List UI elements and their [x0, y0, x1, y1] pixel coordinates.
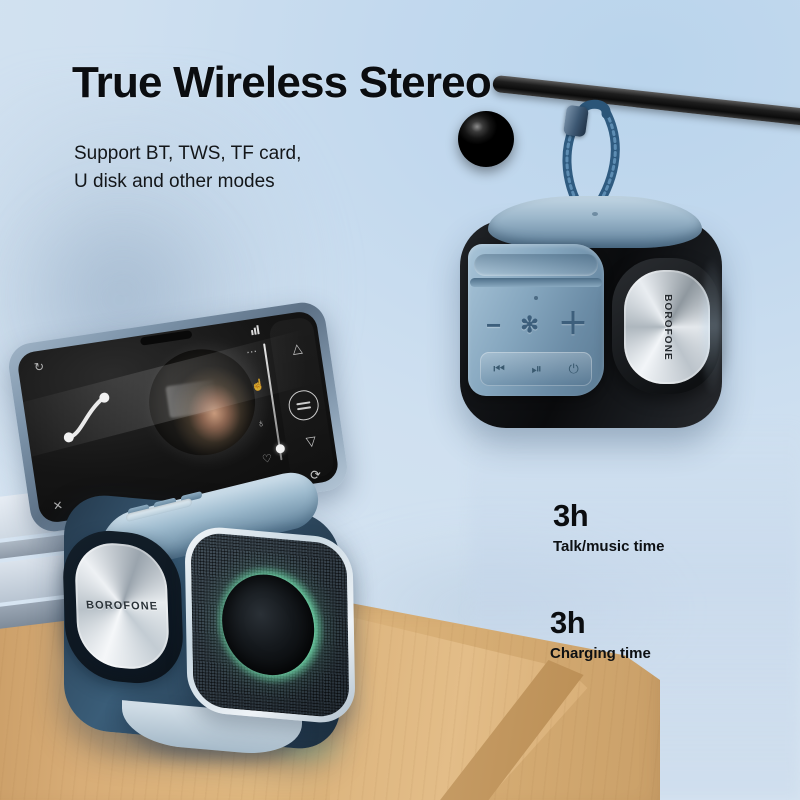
spec-value: 3h [550, 607, 651, 638]
light-mode-button[interactable]: ✻ [520, 314, 538, 336]
rotate-icon[interactable]: ↻ [33, 360, 45, 373]
speaker-black-rim-light [702, 256, 722, 396]
subtitle-line-2: U disk and other modes [74, 168, 301, 196]
power-button[interactable]: ⏻ [568, 361, 578, 377]
speaker-blue: BOROFONE [58, 494, 358, 762]
product-banner: Ady Gasman ↻ ⋯ ☝ ♁ ♡ ✕ △ ▽ ⟳ [0, 0, 800, 800]
subtitle-line-1: Support BT, TWS, TF card, [74, 143, 301, 164]
spec-value: 3h [553, 500, 664, 531]
spec-label: Talk/music time [553, 538, 664, 555]
subtitle: Support BT, TWS, TF card, U disk and oth… [74, 140, 301, 195]
speaker-black-badge: BOROFONE [624, 270, 710, 384]
panel-groove-upper [474, 254, 598, 276]
spec-charging-time: 3h Charging time [550, 607, 651, 662]
previous-track-button[interactable]: ⏮ [493, 361, 505, 377]
speaker-blue-grille [190, 531, 349, 719]
mic-icon[interactable]: ♁ [256, 418, 266, 430]
panel-groove-lower [470, 278, 602, 287]
spec-talk-time: 3h Talk/music time [553, 500, 664, 555]
volume-down-icon[interactable]: ▽ [305, 433, 317, 450]
speaker-black-top [488, 196, 702, 248]
spec-label: Charging time [550, 645, 651, 662]
speaker-black: − ✻ ＋ ⏮ ⏯ ⏻ BOROFONE [452, 196, 742, 446]
heart-icon[interactable]: ♡ [262, 454, 273, 466]
indicator-led [534, 296, 538, 300]
speaker-black-top-dot [592, 212, 598, 216]
brand-label: BOROFONE [662, 294, 673, 361]
page-title: True Wireless Stereo [72, 58, 491, 108]
speaker-blue-grille-frame [184, 524, 355, 725]
volume-up-button[interactable]: ＋ [558, 310, 588, 340]
control-panel: − ✻ ＋ ⏮ ⏯ ⏻ [468, 244, 604, 396]
volume-controls: − ✻ ＋ [478, 304, 596, 346]
volume-down-button[interactable]: − [486, 312, 501, 338]
strap-ferrule [563, 105, 589, 138]
play-pause-button[interactable]: ⏯ [532, 361, 542, 377]
rod-ball-end [458, 111, 514, 167]
equalizer-icon[interactable] [287, 388, 321, 422]
brand-label: BOROFONE [85, 599, 158, 612]
media-controls: ⏮ ⏯ ⏻ [480, 352, 592, 386]
